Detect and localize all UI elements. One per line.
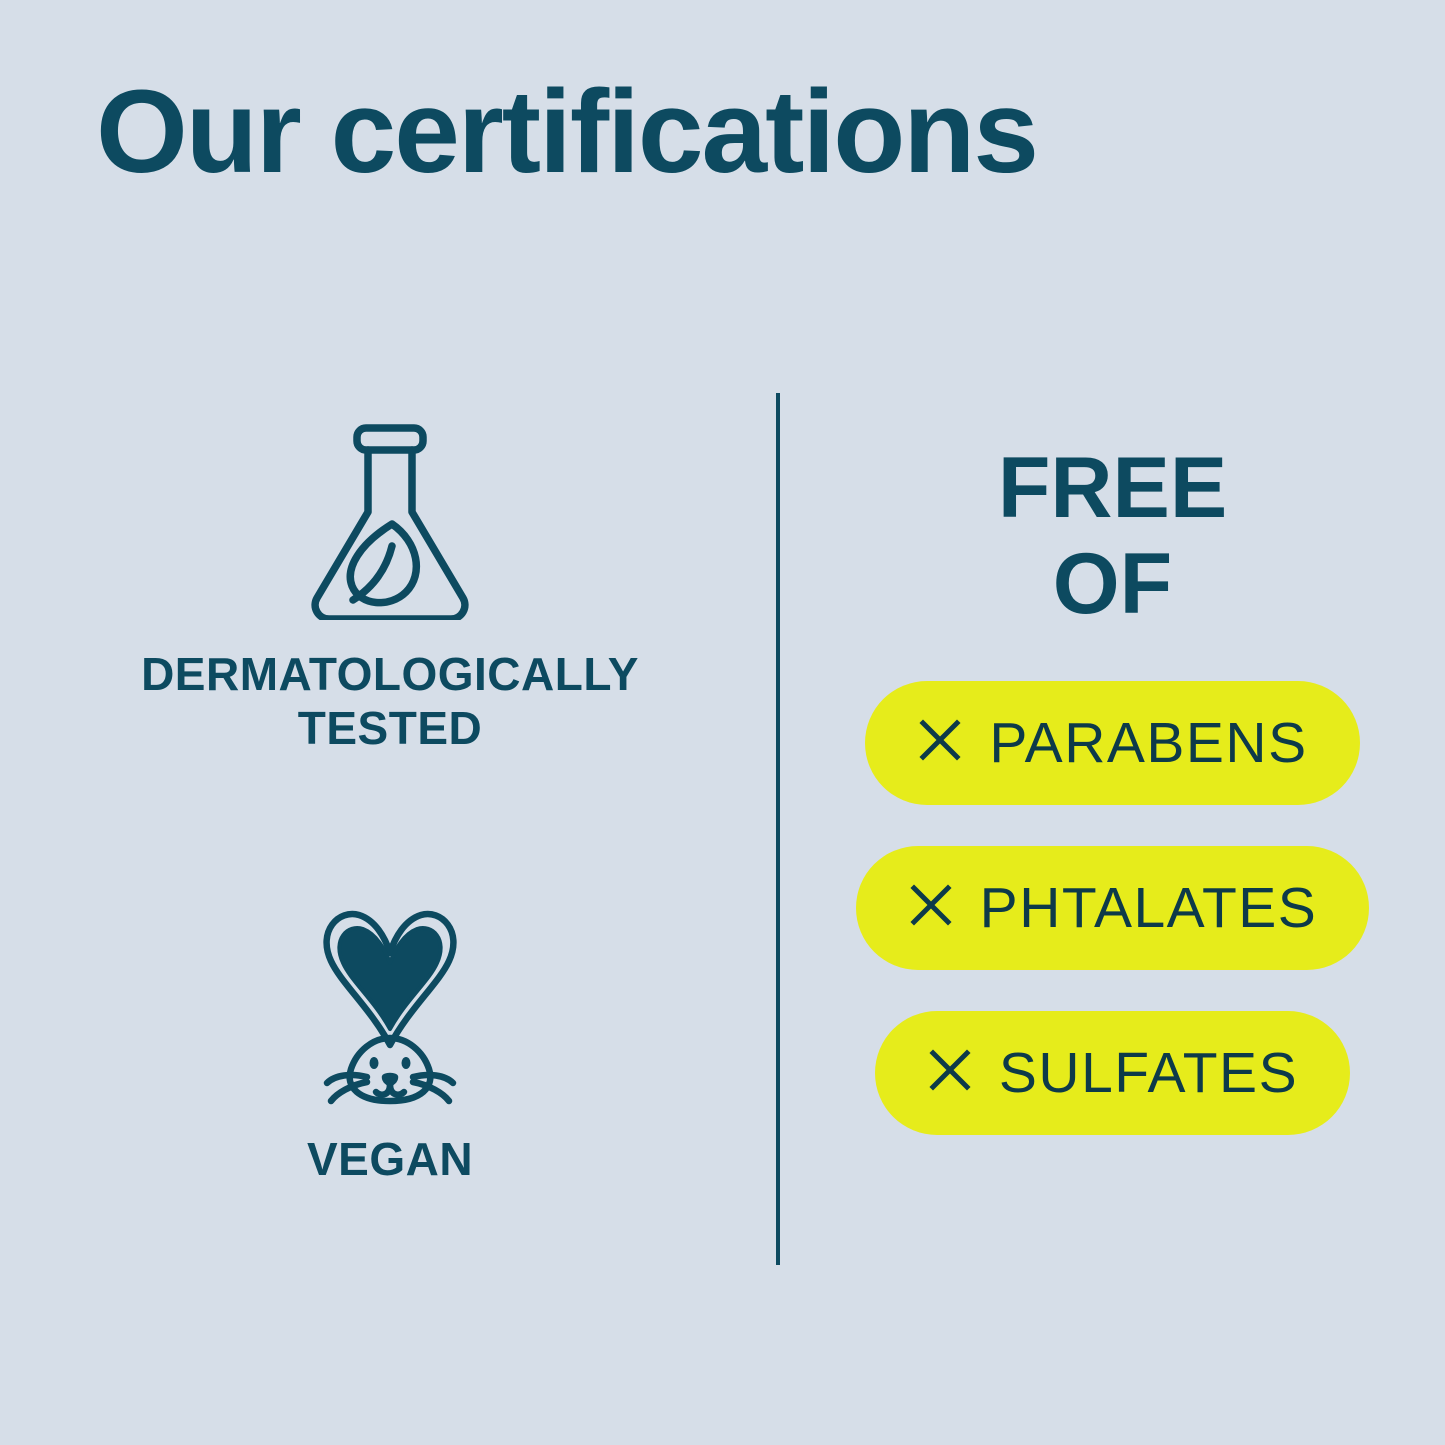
cross-icon (927, 1047, 973, 1098)
pill-label: PHTALATES (980, 875, 1318, 941)
cross-icon (917, 717, 963, 768)
free-of-heading-line2: OF (820, 536, 1405, 632)
column-divider (776, 393, 780, 1265)
bunny-heart-ears-icon (40, 905, 740, 1110)
free-of-pill-parabens: PARABENS (865, 681, 1359, 805)
certifications-column: DERMATOLOGICALLY TESTED (40, 400, 740, 1280)
pill-label: SULFATES (999, 1040, 1298, 1106)
certification-label: VEGAN (40, 1132, 740, 1186)
page-title: Our certifications (96, 68, 1037, 198)
certification-vegan: VEGAN (40, 905, 740, 1186)
certifications-card: Our certifications DERMATOLOGICALLY TEST… (0, 0, 1445, 1445)
cross-icon (908, 882, 954, 933)
certification-label: DERMATOLOGICALLY TESTED (90, 647, 690, 756)
certification-dermatologically-tested: DERMATOLOGICALLY TESTED (40, 420, 740, 756)
free-of-heading-line1: FREE (820, 440, 1405, 536)
free-of-pill-phtalates: PHTALATES (856, 846, 1370, 970)
free-of-pill-list: PARABENS PHTALATES SUL (820, 681, 1405, 1135)
free-of-pill-sulfates: SULFATES (875, 1011, 1350, 1135)
free-of-column: FREE OF PARABENS (820, 440, 1405, 1135)
flask-leaf-icon (40, 420, 740, 625)
free-of-heading: FREE OF (820, 440, 1405, 633)
pill-label: PARABENS (989, 710, 1307, 776)
